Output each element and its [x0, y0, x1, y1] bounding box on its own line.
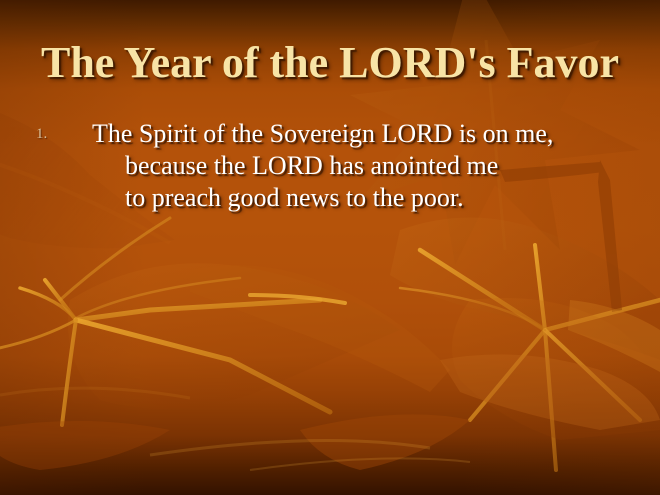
slide-title: The Year of the LORD's Favor — [0, 36, 660, 90]
slide: The Year of the LORD's Favor 1. The Spir… — [0, 0, 660, 495]
slide-body: 1. The Spirit of the Sovereign LORD is o… — [30, 118, 630, 214]
bullet-item: 1. The Spirit of the Sovereign LORD is o… — [30, 118, 630, 214]
bullet-number-marker: 1. — [36, 127, 47, 142]
bullet-line-2: because the LORD has anointed me — [30, 150, 630, 182]
leaf-lower-left — [0, 218, 450, 425]
bullet-text-lines: The Spirit of the Sovereign LORD is on m… — [30, 118, 630, 214]
bullet-line-3: to preach good news to the poor. — [30, 182, 630, 214]
bullet-line-1: The Spirit of the Sovereign LORD is on m… — [30, 118, 630, 150]
